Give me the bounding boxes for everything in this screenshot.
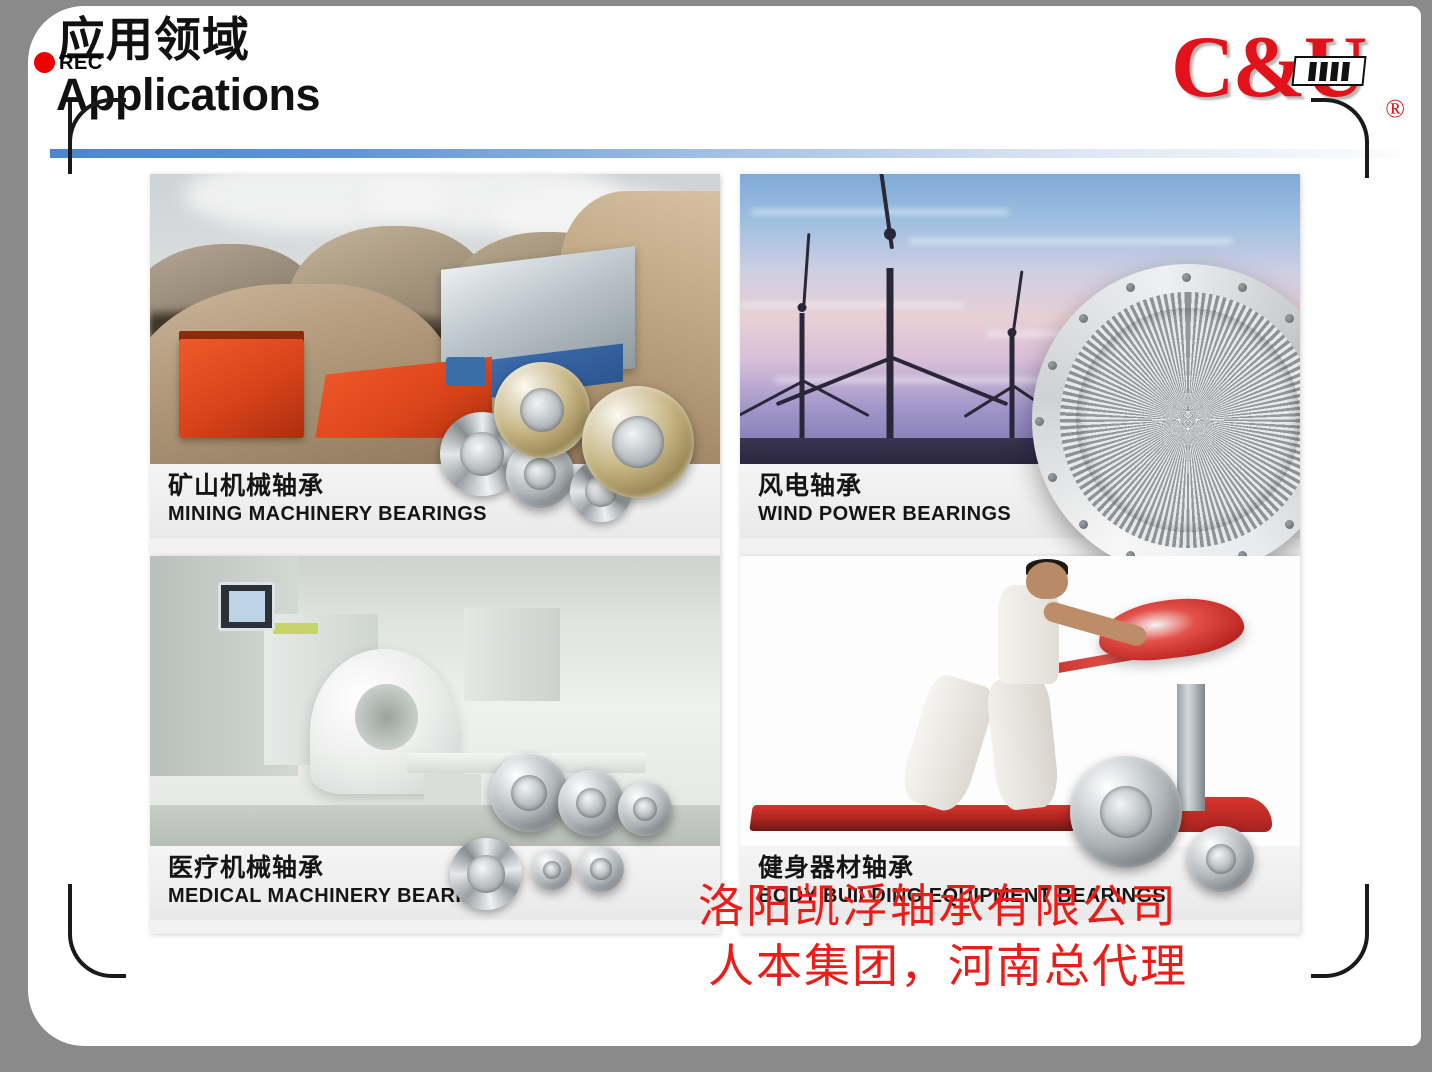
bracket-top-right-stem [1365, 142, 1369, 178]
record-dot-icon [34, 52, 55, 73]
slide-header: 应用领域 Applications C&U ® [28, 6, 1421, 146]
recording-indicator: REC [34, 52, 103, 73]
card-image-mining [150, 174, 720, 464]
bracket-top-left-stem [68, 102, 126, 174]
slide-stage: 应用领域 Applications C&U ® [0, 0, 1432, 1072]
card-title-english: BODY BUILDING EQUIPMENT BEARINGS [758, 884, 1300, 908]
card-title-english: WIND POWER BEARINGS [758, 502, 1300, 526]
brand-logo: C&U ® [1171, 24, 1401, 128]
recording-label: REC [59, 53, 103, 73]
card-title-chinese: 矿山机械轴承 [168, 472, 720, 501]
card-image-body-building [740, 556, 1300, 846]
presentation-slide: 应用领域 Applications C&U ® [28, 6, 1421, 1046]
header-divider [50, 149, 1400, 158]
card-caption-medical: 医疗机械轴承 MEDICAL MACHINERY BEARINGS [150, 846, 720, 920]
application-card-mining[interactable]: 矿山机械轴承 MINING MACHINERY BEARINGS [150, 174, 720, 556]
bracket-bottom-right [1311, 922, 1369, 978]
application-card-wind-power[interactable]: 风电轴承 WIND POWER BEARINGS [740, 174, 1300, 556]
card-image-medical [150, 556, 720, 846]
registered-trademark-symbol: ® [1385, 96, 1405, 122]
card-caption-wind-power: 风电轴承 WIND POWER BEARINGS [740, 464, 1300, 538]
card-title-english: MEDICAL MACHINERY BEARINGS [168, 884, 720, 908]
card-title-chinese: 风电轴承 [758, 472, 1300, 501]
card-caption-body-building: 健身器材轴承 BODY BUILDING EQUIPMENT BEARINGS [740, 846, 1300, 920]
bars-graphic-icon [1291, 56, 1366, 86]
application-card-body-building[interactable]: 健身器材轴承 BODY BUILDING EQUIPMENT BEARINGS [740, 556, 1300, 934]
application-card-grid: 矿山机械轴承 MINING MACHINERY BEARINGS [150, 174, 1300, 934]
card-title-english: MINING MACHINERY BEARINGS [168, 502, 720, 526]
card-image-wind-power [740, 174, 1300, 464]
bracket-bottom-left [68, 922, 126, 978]
bracket-bottom-right-stem [1365, 884, 1369, 924]
application-card-medical[interactable]: 医疗机械轴承 MEDICAL MACHINERY BEARINGS [150, 556, 720, 934]
card-title-chinese: 健身器材轴承 [758, 854, 1300, 883]
bracket-bottom-left-stem [68, 884, 72, 924]
card-caption-mining: 矿山机械轴承 MINING MACHINERY BEARINGS [150, 464, 720, 538]
card-title-chinese: 医疗机械轴承 [168, 854, 720, 883]
